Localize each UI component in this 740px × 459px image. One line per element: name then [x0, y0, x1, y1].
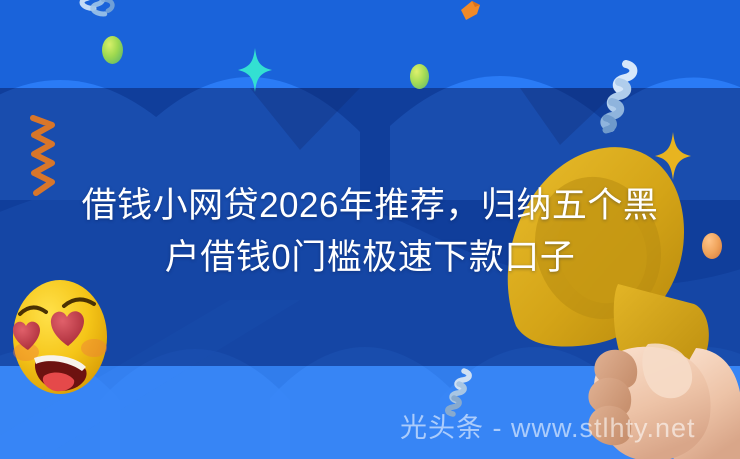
- banner-image: 借钱小网贷2026年推荐，归纳五个黑 户借钱0门槛极速下款口子 光头条 - ww…: [0, 0, 740, 459]
- page-title: 借钱小网贷2026年推荐，归纳五个黑 户借钱0门槛极速下款口子: [0, 180, 740, 284]
- watermark: 光头条 - www.stlhty.net: [400, 406, 696, 445]
